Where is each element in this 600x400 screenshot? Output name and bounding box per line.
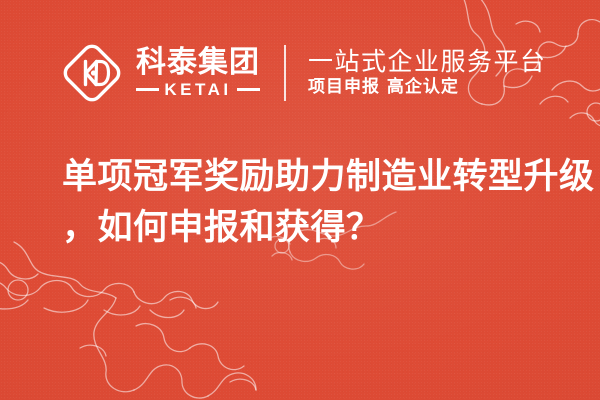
tagline-primary: 一站式企业服务平台 <box>308 48 547 76</box>
header-vertical-divider <box>284 45 286 101</box>
ketai-diamond-kd-logo-icon <box>60 41 124 105</box>
tagline-secondary: 项目申报 高企认定 <box>308 78 547 98</box>
logo-rule-right <box>237 88 260 91</box>
logo-company-name-cn: 科泰集团 <box>136 48 260 79</box>
brand-logo[interactable]: 科泰集团 KETAI <box>60 41 260 105</box>
promo-banner: 科泰集团 KETAI 一站式企业服务平台 项目申报 高企认定 单项冠军奖励助力制… <box>0 0 600 400</box>
logo-wordmark: 科泰集团 KETAI <box>136 48 260 99</box>
headline-block: 单项冠军奖励助力制造业转型升级 ，如何申报和获得？ <box>62 152 554 254</box>
banner-header: 科泰集团 KETAI 一站式企业服务平台 项目申报 高企认定 <box>60 38 556 108</box>
headline-line-2: ，如何申报和获得？ <box>62 203 554 254</box>
logo-company-name-latin: KETAI <box>164 81 231 98</box>
headline-line-1: 单项冠军奖励助力制造业转型升级 <box>62 152 554 203</box>
cloud-decoration-bottom-left <box>0 238 304 400</box>
logo-latin-row: KETAI <box>136 81 260 98</box>
tagline-block: 一站式企业服务平台 项目申报 高企认定 <box>308 48 547 98</box>
logo-rule-left <box>136 88 159 91</box>
